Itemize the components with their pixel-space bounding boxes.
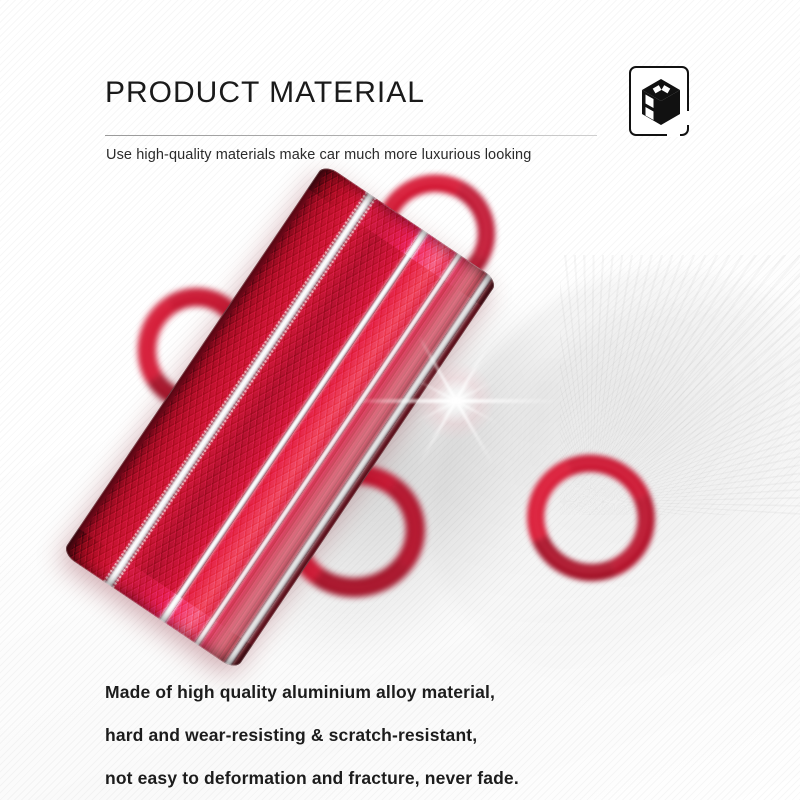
description-line-1: Made of high quality aluminium alloy mat… xyxy=(105,682,495,703)
product-image xyxy=(0,160,800,680)
blurred-ring-bottom-right-highlight xyxy=(533,460,648,573)
sparkle-flare-icon xyxy=(455,400,456,401)
package-box-icon xyxy=(629,66,689,136)
description-line-3: not easy to deformation and fracture, ne… xyxy=(105,768,519,789)
header: PRODUCT MATERIAL Use high-quality materi… xyxy=(0,0,800,175)
page-title: PRODUCT MATERIAL xyxy=(105,76,425,110)
description-block: Made of high quality aluminium alloy mat… xyxy=(0,668,800,800)
product-material-slide: PRODUCT MATERIAL Use high-quality materi… xyxy=(0,0,800,800)
description-line-2: hard and wear-resisting & scratch-resist… xyxy=(105,725,477,746)
header-divider xyxy=(105,135,597,136)
badge-notch-right xyxy=(685,111,690,125)
badge-notch-bottom xyxy=(667,132,680,137)
